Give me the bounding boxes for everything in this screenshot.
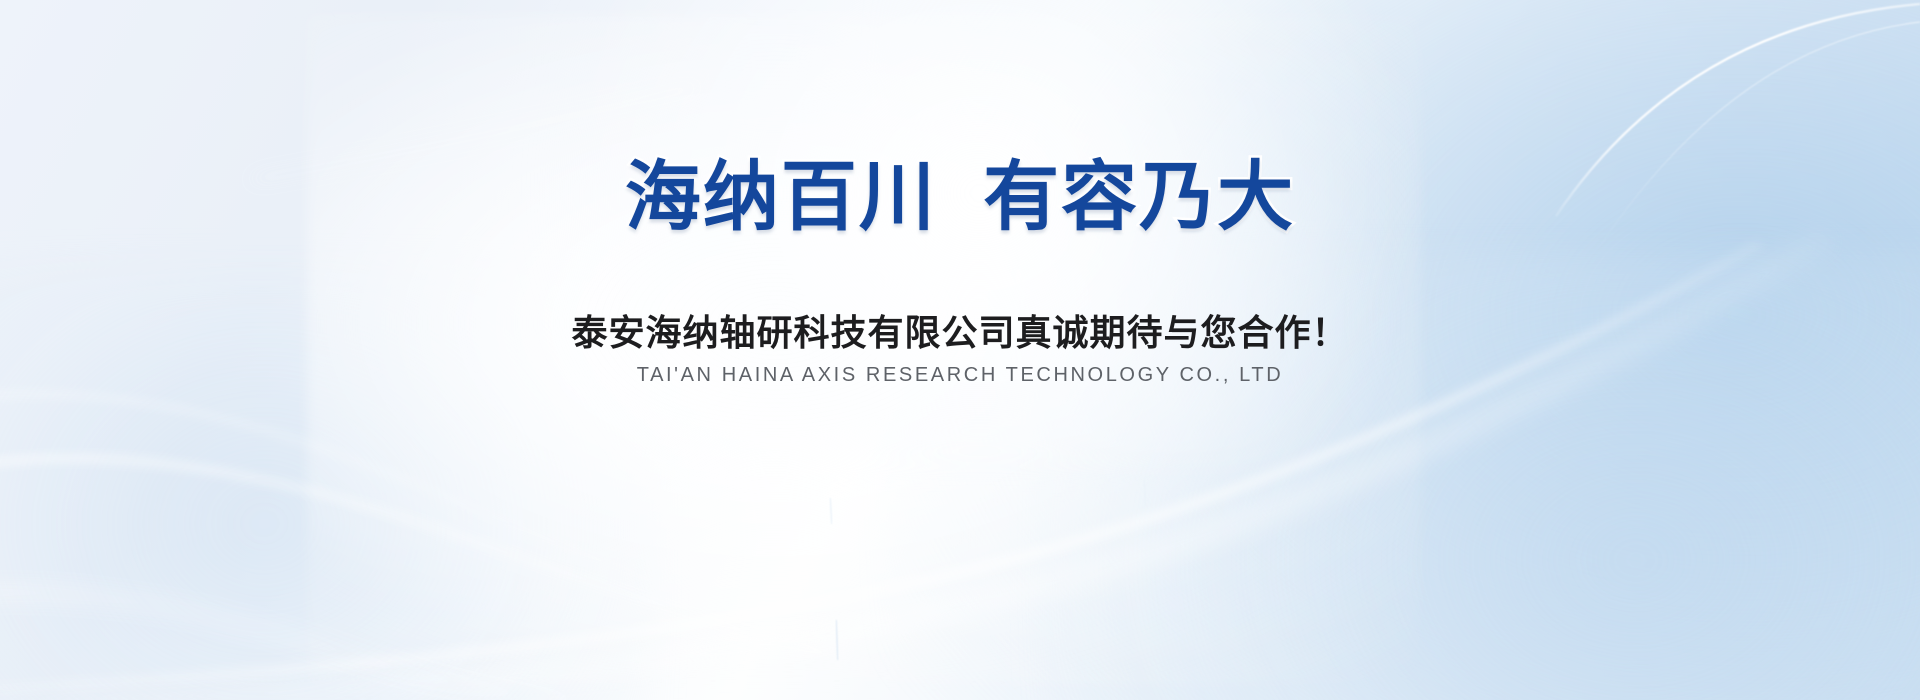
- banner-content: 海纳百川 有容乃大 泰安海纳轴研科技有限公司真诚期待与您合作！ TAI'AN H…: [0, 0, 1920, 700]
- subtitle-chinese: 泰安海纳轴研科技有限公司真诚期待与您合作！: [0, 310, 1920, 356]
- page-title: 海纳百川 有容乃大: [0, 160, 1920, 236]
- hero-banner: 海纳百川 有容乃大 泰安海纳轴研科技有限公司真诚期待与您合作！ TAI'AN H…: [0, 0, 1920, 700]
- subtitle-english: TAI'AN HAINA AXIS RESEARCH TECHNOLOGY CO…: [0, 362, 1920, 388]
